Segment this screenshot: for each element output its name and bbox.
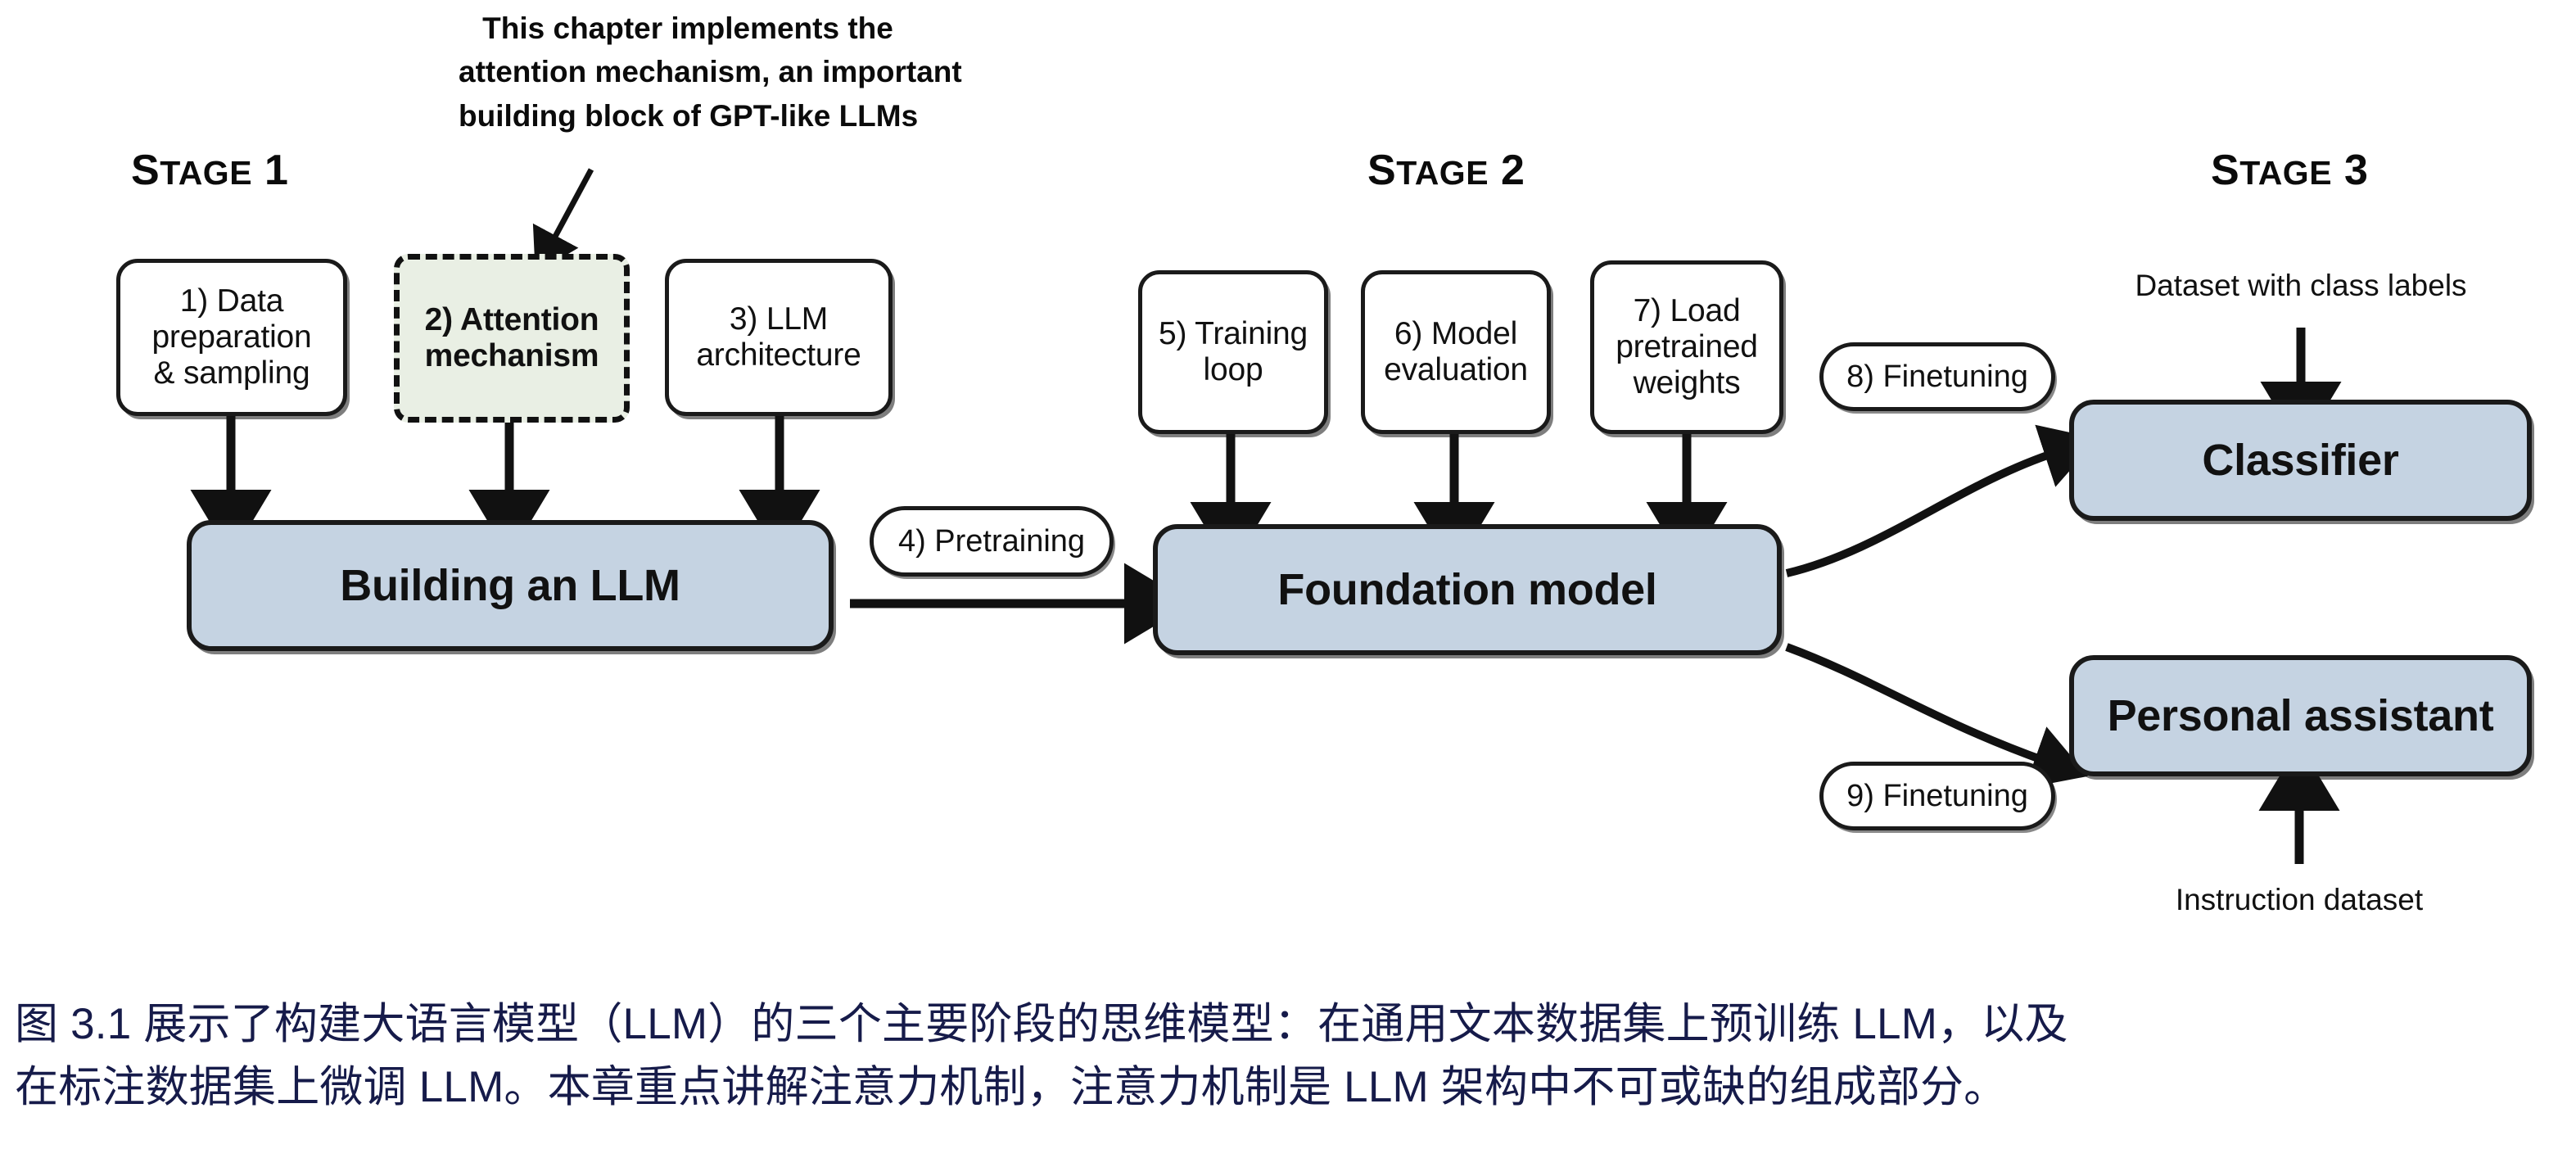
box-model-evaluation[interactable]: 6) Model evaluation [1361,270,1551,434]
personal-assistant-label: Personal assistant [2108,691,2494,740]
classifier-label: Classifier [2202,436,2398,485]
training-loop-line-1: 5) Training [1159,316,1308,352]
load-weights-line-2: pretrained [1616,329,1758,365]
box-training-loop[interactable]: 5) Training loop [1138,270,1328,434]
box-building-an-llm[interactable]: Building an LLM [187,520,834,651]
chapter-annotation: This chapter implements the attention me… [459,7,917,138]
box-data-preparation[interactable]: 1) Data preparation & sampling [116,259,347,416]
attention-line-1: 2) Attention [425,302,599,338]
stage-3-heading: STAGE 3 [2211,146,2368,195]
foundation-model-label: Foundation model [1277,565,1656,614]
stage-3-number: 3 [2332,147,2368,194]
pill-pretraining[interactable]: 4) Pretraining [870,506,1114,577]
training-loop-line-2: loop [1159,352,1308,388]
stage-2-heading: STAGE 2 [1367,146,1525,195]
data-preparation-line-2: preparation [151,319,311,355]
building-an-llm-label: Building an LLM [340,561,680,610]
pretraining-label: 4) Pretraining [898,524,1085,559]
box-classifier[interactable]: Classifier [2069,400,2532,521]
figure-diagram: This chapter implements the attention me… [0,0,2576,966]
annotation-arrow [550,170,591,246]
box-foundation-model[interactable]: Foundation model [1153,524,1782,655]
stage-1-number: 1 [252,147,288,194]
caption-line-1: 图 3.1 展示了构建大语言模型（LLM）的三个主要阶段的思维模型：在通用文本数… [15,993,2561,1056]
llm-architecture-line-1: 3) LLM [696,301,861,337]
arrow-foundation-to-classifier [1787,452,2057,573]
annotation-line-2: attention mechanism, an important [459,50,917,93]
stage-3-rest: TAGE [2239,154,2332,192]
arrow-foundation-to-assistant [1787,647,2047,762]
box-load-pretrained-weights[interactable]: 7) Load pretrained weights [1590,260,1783,434]
stage-2-number: 2 [1489,147,1525,194]
stage-2-initial: S [1367,147,1396,194]
pill-finetuning-classifier[interactable]: 8) Finetuning [1819,342,2055,411]
model-evaluation-line-1: 6) Model [1384,316,1528,352]
pill-finetuning-assistant[interactable]: 9) Finetuning [1819,762,2055,830]
load-weights-line-3: weights [1616,365,1758,401]
box-llm-architecture[interactable]: 3) LLM architecture [665,259,893,416]
label-dataset-with-class-labels: Dataset with class labels [2135,269,2466,303]
model-evaluation-line-2: evaluation [1384,352,1528,388]
stage-2-rest: TAGE [1396,154,1489,192]
box-attention-mechanism[interactable]: 2) Attention mechanism [394,254,630,423]
data-preparation-line-3: & sampling [151,355,311,391]
label-instruction-dataset: Instruction dataset [2176,883,2423,917]
stage-1-rest: TAGE [160,154,252,192]
stage-1-initial: S [131,147,160,194]
data-preparation-line-1: 1) Data [151,283,311,319]
attention-line-2: mechanism [425,338,599,374]
finetuning-assistant-label: 9) Finetuning [1846,779,2028,814]
annotation-line-1: This chapter implements the [459,7,917,50]
stage-1-heading: STAGE 1 [131,146,288,195]
llm-architecture-line-2: architecture [696,337,861,373]
annotation-line-3: building block of GPT-like LLMs [459,94,917,138]
caption-line-2: 在标注数据集上微调 LLM。本章重点讲解注意力机制，注意力机制是 LLM 架构中… [15,1056,2561,1119]
figure-caption: 图 3.1 展示了构建大语言模型（LLM）的三个主要阶段的思维模型：在通用文本数… [15,993,2561,1120]
stage-3-initial: S [2211,147,2239,194]
load-weights-line-1: 7) Load [1616,293,1758,329]
finetuning-classifier-label: 8) Finetuning [1846,360,2028,395]
box-personal-assistant[interactable]: Personal assistant [2069,655,2532,776]
